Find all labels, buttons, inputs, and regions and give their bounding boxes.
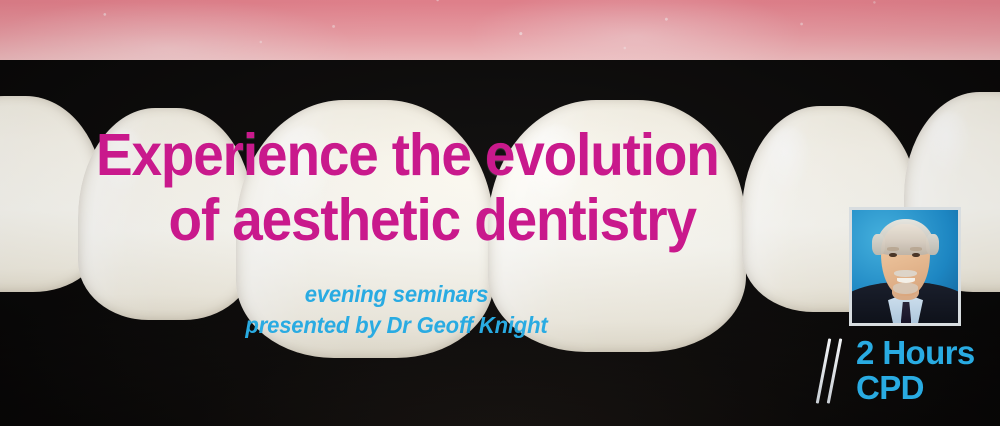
- subtitle-line-2: presented by Dr Geoff Knight: [16, 310, 777, 341]
- presenter-portrait: [849, 207, 961, 326]
- status-badge: 2 Hours CPD: [818, 336, 975, 406]
- portrait-beard: [893, 283, 917, 293]
- gum-highlight-speckle: [0, 0, 1000, 60]
- gum-tissue: [0, 0, 1000, 60]
- double-slash-icon: [818, 336, 844, 406]
- subtitle-line-1: evening seminars: [16, 279, 777, 310]
- page-title: Experience the evolution of aesthetic de…: [96, 126, 831, 250]
- cpd-line-2: CPD: [856, 371, 975, 406]
- portrait-eyebrow-left: [887, 247, 899, 250]
- portrait-moustache: [894, 270, 916, 277]
- cpd-line-1: 2 Hours: [856, 336, 975, 371]
- cpd-label: 2 Hours CPD: [856, 336, 975, 405]
- headline-line-1: Experience the evolution: [96, 126, 831, 185]
- subtitle: evening seminars presented by Dr Geoff K…: [16, 279, 777, 340]
- portrait-eyebrow-right: [910, 247, 922, 250]
- seminar-banner: Experience the evolution of aesthetic de…: [0, 0, 1000, 426]
- headline-line-2: of aesthetic dentistry: [96, 191, 831, 250]
